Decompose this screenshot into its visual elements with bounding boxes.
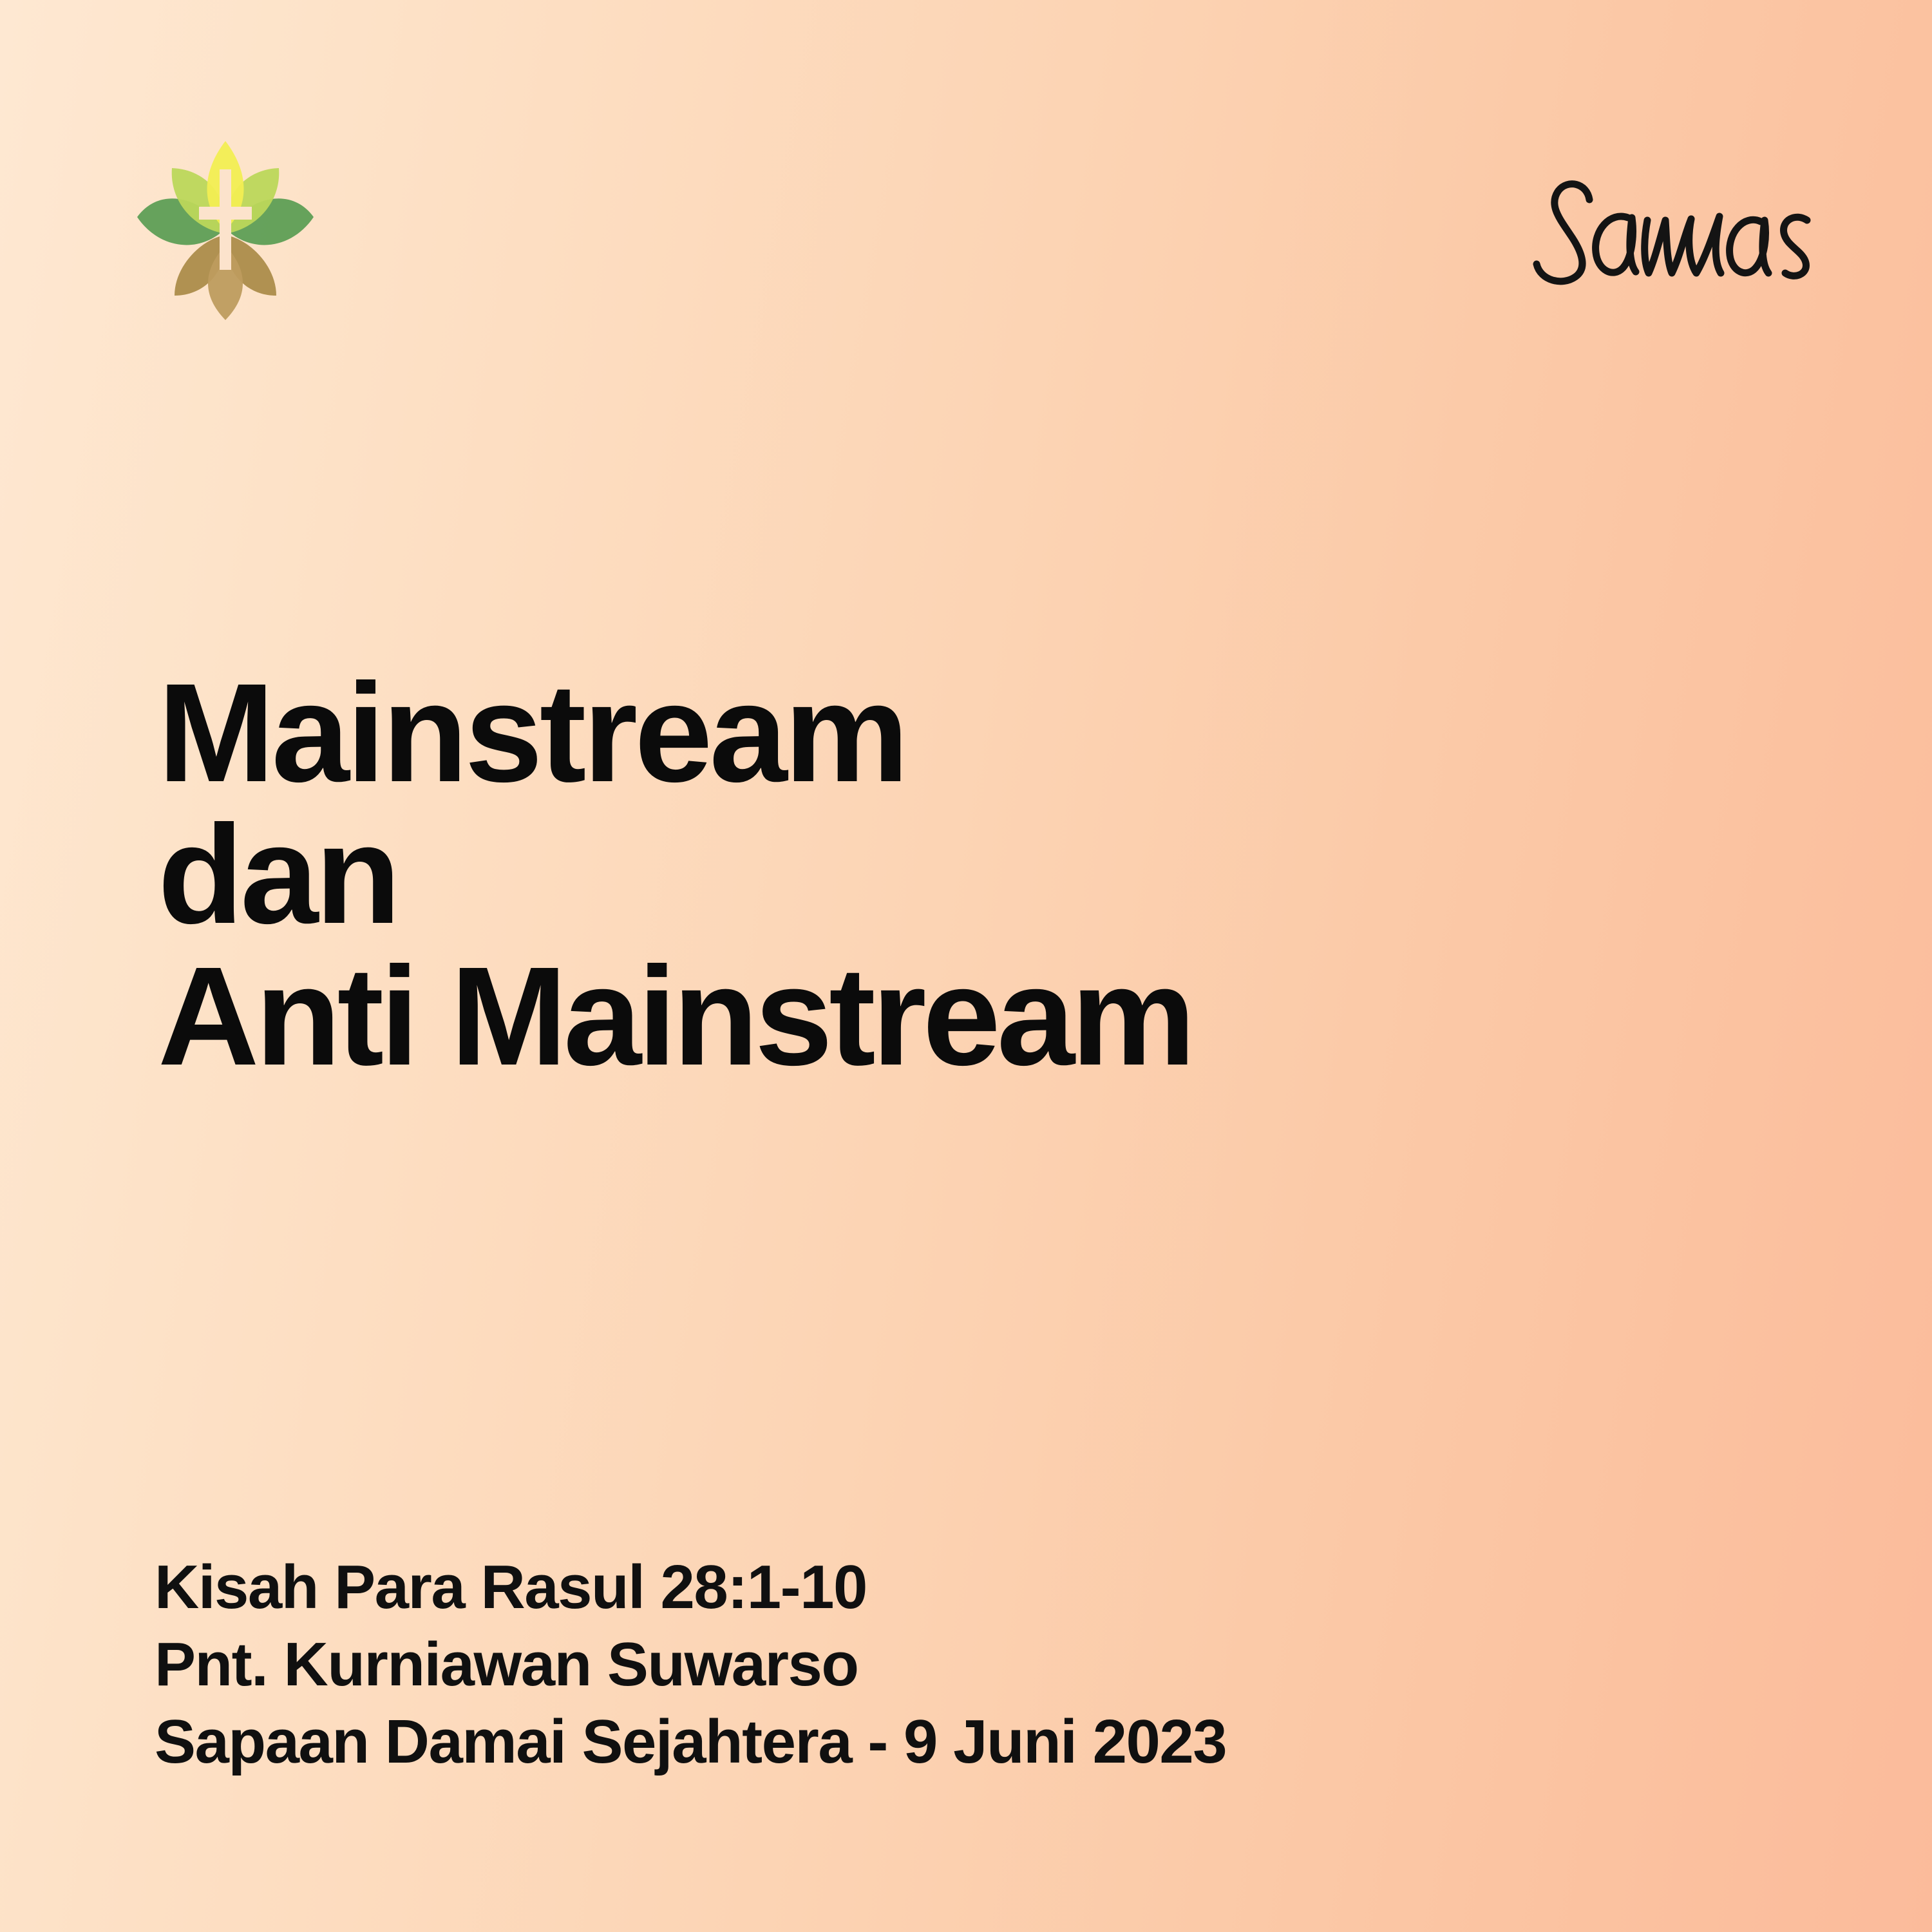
lotus-cross-logo — [132, 132, 319, 325]
title-line-2: dan — [158, 811, 1845, 939]
sermon-title-slide: Mainstream dan Anti Mainstream Kisah Par… — [0, 0, 1932, 1932]
sermon-details: Kisah Para Rasul 28:1-10 Pnt. Kurniawan … — [155, 1549, 1829, 1781]
page-title: Mainstream dan Anti Mainstream — [158, 670, 1845, 1081]
slide-header — [0, 0, 1932, 361]
scripture-reference: Kisah Para Rasul 28:1-10 — [155, 1549, 1829, 1626]
samas-wordmark — [1501, 155, 1835, 316]
speaker-name: Pnt. Kurniawan Suwarso — [155, 1626, 1829, 1703]
title-line-3: Anti Mainstream — [158, 953, 1845, 1081]
title-line-1: Mainstream — [158, 670, 1845, 797]
event-and-date: Sapaan Damai Sejahtera - 9 Juni 2023 — [155, 1703, 1829, 1781]
